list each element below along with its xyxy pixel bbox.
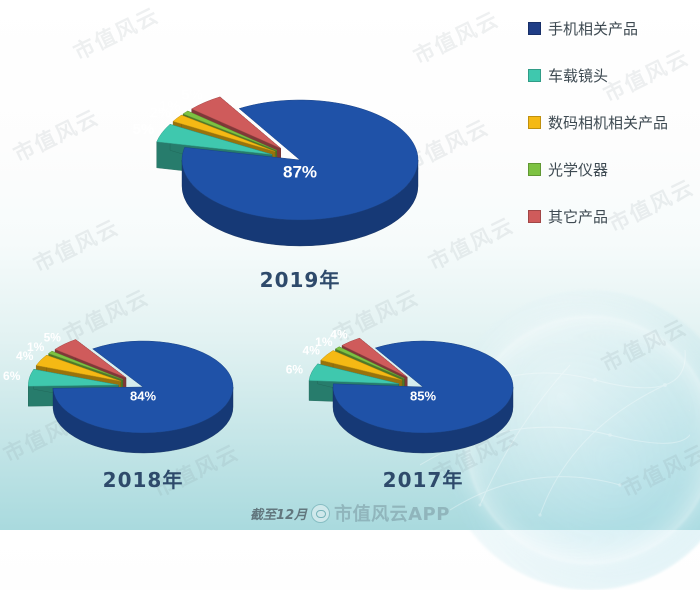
pie-stage-2018: 84%6%4%1%5% — [18, 272, 268, 458]
legend-item-mobile[interactable]: 手机相关产品 — [528, 18, 700, 39]
pie-slice-label: 1% — [27, 340, 45, 354]
pie-stage-2019: 87%5%2%1%5% — [130, 8, 470, 258]
pie-slice-label: 85% — [410, 388, 436, 403]
pie-slice-label: 5% — [44, 330, 62, 344]
watermark: 市值风云 — [28, 211, 124, 278]
watermark: 市值风云 — [596, 311, 692, 378]
pie-slice-label: 5% — [133, 121, 155, 138]
legend-item-optical[interactable]: 光学仪器 — [528, 159, 700, 180]
pie-slice-label: 6% — [3, 369, 21, 383]
chart-year-label-2017: 2017年 — [298, 464, 548, 493]
legend-item-digital-camera[interactable]: 数码相机相关产品 — [528, 112, 700, 133]
chart-legend: 手机相关产品 车载镜头 数码相机相关产品 光学仪器 其它产品 — [528, 18, 700, 253]
pie-slice-label: 4% — [330, 327, 348, 341]
legend-swatch-automotive — [528, 69, 541, 82]
pie-slice-label: 6% — [286, 363, 304, 377]
pie-svg-2018: 84%6%4%1%5% — [18, 272, 268, 458]
legend-swatch-mobile — [528, 22, 541, 35]
legend-label-automotive: 车载镜头 — [548, 65, 608, 86]
footer-date: 截至12月 — [250, 504, 307, 523]
legend-swatch-other — [528, 210, 541, 223]
pie-slice-label: 84% — [130, 388, 156, 403]
legend-label-digital-camera: 数码相机相关产品 — [548, 112, 668, 133]
legend-swatch-optical — [528, 163, 541, 176]
footer-credit: 截至12月 市值风云APP — [0, 500, 700, 526]
pie-slice-label: 5% — [181, 87, 203, 104]
footer-brand: 市值风云APP — [334, 500, 450, 526]
legend-label-other: 其它产品 — [548, 206, 608, 227]
pie-slice-label: 87% — [283, 162, 317, 181]
legend-label-mobile: 手机相关产品 — [548, 18, 638, 39]
pie-svg-2019: 87%5%2%1%5% — [130, 8, 470, 258]
legend-item-other[interactable]: 其它产品 — [528, 206, 700, 227]
legend-label-optical: 光学仪器 — [548, 159, 608, 180]
legend-swatch-digital-camera — [528, 116, 541, 129]
watermark: 市值风云 — [8, 101, 104, 168]
chart-year-label-2018: 2018年 — [18, 464, 268, 493]
weibo-icon — [311, 504, 330, 523]
watermark: 市值风云 — [616, 436, 700, 503]
legend-item-automotive[interactable]: 车载镜头 — [528, 65, 700, 86]
pie-chart-2017: 85%6%4%1%4% 2017年 — [298, 272, 548, 493]
pie-slice-label: 1% — [159, 98, 181, 115]
pie-svg-2017: 85%6%4%1%4% — [298, 272, 548, 458]
pie-chart-2019: 87%5%2%1%5% 2019年 — [130, 8, 470, 293]
pie-chart-2018: 84%6%4%1%5% 2018年 — [18, 272, 268, 493]
pie-stage-2017: 85%6%4%1%4% — [298, 272, 548, 458]
